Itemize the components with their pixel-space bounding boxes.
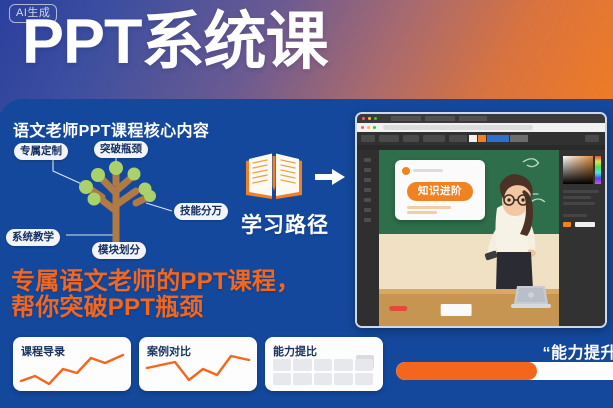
grid-block [334, 373, 352, 385]
grid-block [293, 373, 311, 385]
charts-icon[interactable] [364, 208, 371, 212]
grid-blocks-chart [273, 359, 373, 385]
templates-icon[interactable] [364, 218, 371, 222]
swatch-white[interactable] [469, 135, 477, 142]
swatch-gray[interactable] [510, 135, 528, 142]
mindmap-node-4[interactable]: 模块划分 [92, 242, 146, 259]
editor-left-rail[interactable] [357, 150, 379, 326]
nav-forward-icon[interactable] [367, 126, 370, 129]
mindmap-tree: 专属定制 突破瓶颈 技能分万 系统教学 模块划分 [6, 141, 236, 257]
grid-block [355, 373, 373, 385]
address-bar[interactable] [357, 123, 605, 132]
grid-block [293, 359, 311, 371]
property-row-1[interactable] [563, 190, 599, 193]
editor-workspace: 知识进阶 [357, 150, 605, 326]
editor-canvas[interactable]: 知识进阶 [379, 150, 559, 326]
browser-tabs[interactable] [391, 116, 511, 121]
hero-banner: AI生成 PPT系统课 [0, 0, 613, 112]
grid-block [314, 373, 332, 385]
arrow-right-icon [315, 169, 345, 185]
tool-text-icon[interactable] [403, 135, 419, 142]
mindmap-node-1[interactable]: 突破瓶颈 [94, 141, 148, 158]
grid-block [273, 373, 291, 385]
page-title: PPT系统课 [22, 6, 328, 78]
mindmap-node-2[interactable]: 技能分万 [174, 203, 228, 220]
grid-block [355, 359, 373, 371]
line-chart-0 [17, 351, 127, 387]
nav-back-icon[interactable] [361, 126, 364, 129]
headline-line-1: 专属语文老师的PPT课程， [11, 269, 300, 295]
color-picker-field[interactable] [563, 156, 593, 184]
teacher-illustration [483, 164, 545, 292]
components-icon[interactable] [364, 188, 371, 192]
window-titlebar [357, 114, 605, 123]
metric-card-2[interactable]: 能力提比 [265, 337, 383, 391]
tool-more-icon[interactable] [585, 135, 599, 142]
layers-icon[interactable] [364, 158, 371, 162]
tool-select-icon[interactable] [361, 135, 375, 142]
hue-slider[interactable] [595, 156, 601, 184]
metric-card-1[interactable]: 案例对比 [139, 337, 257, 391]
editor-toolbar[interactable] [357, 132, 605, 145]
value-field[interactable] [575, 222, 595, 227]
laptop-icon [511, 284, 551, 310]
poster-root: AI生成 PPT系统课 语文老师PPT课程核心内容 [0, 0, 613, 408]
headline: 专属语文老师的PPT课程， 帮你突破PPT瓶颈 [11, 269, 300, 321]
property-row-3[interactable] [563, 202, 595, 205]
property-row-4[interactable] [563, 214, 587, 217]
metric-card-0[interactable]: 课程导录 [13, 337, 131, 391]
assets-icon[interactable] [364, 168, 371, 172]
swatch-orange[interactable] [478, 135, 486, 142]
slide-line-2 [407, 211, 437, 214]
line-chart-1 [143, 351, 253, 387]
content-panel: 语文老师PPT课程核心内容 [0, 99, 613, 408]
section-title: 语文老师PPT课程核心内容 [13, 117, 209, 141]
tool-align-icon[interactable] [423, 135, 445, 142]
close-icon[interactable] [362, 117, 365, 120]
slide-logo-icon [402, 167, 410, 175]
slide-line-1 [407, 206, 451, 209]
swatch-blue[interactable] [487, 135, 509, 142]
ai-generated-badge: AI生成 [9, 4, 57, 23]
mindmap-node-3[interactable]: 系统教学 [6, 229, 60, 246]
slide-card[interactable]: 知识进阶 [395, 160, 485, 220]
progress-fill [396, 362, 537, 380]
open-book-icon [243, 147, 305, 203]
media-icon[interactable] [364, 198, 371, 202]
minimize-icon[interactable] [368, 117, 371, 120]
progress-label: “能力提升 [542, 339, 613, 363]
learning-path-block: 学习路径 [243, 147, 351, 247]
url-input[interactable] [383, 125, 533, 130]
mindmap-node-0[interactable]: 专属定制 [14, 143, 68, 160]
metric-card-title-2: 能力提比 [273, 343, 317, 359]
editor-screenshot[interactable]: 知识进阶 [355, 112, 607, 328]
tool-shape-icon[interactable] [379, 135, 399, 142]
maximize-icon[interactable] [374, 117, 377, 120]
grid-block [273, 359, 291, 371]
progress-bar[interactable] [396, 362, 613, 380]
grid-block [314, 359, 332, 371]
slide-logo-text [413, 169, 443, 172]
nav-reload-icon[interactable] [373, 126, 376, 129]
pages-icon[interactable] [364, 178, 371, 182]
headline-line-2: 帮你突破PPT瓶颈 [11, 295, 300, 321]
slide-pill-label: 知识进阶 [407, 182, 473, 201]
tool-effects-icon[interactable] [449, 135, 467, 142]
grid-block [334, 359, 352, 371]
learning-path-label: 学习路径 [241, 209, 329, 239]
editor-right-rail[interactable] [559, 150, 605, 326]
accent-swatch[interactable] [563, 222, 571, 227]
property-row-2[interactable] [563, 196, 591, 199]
